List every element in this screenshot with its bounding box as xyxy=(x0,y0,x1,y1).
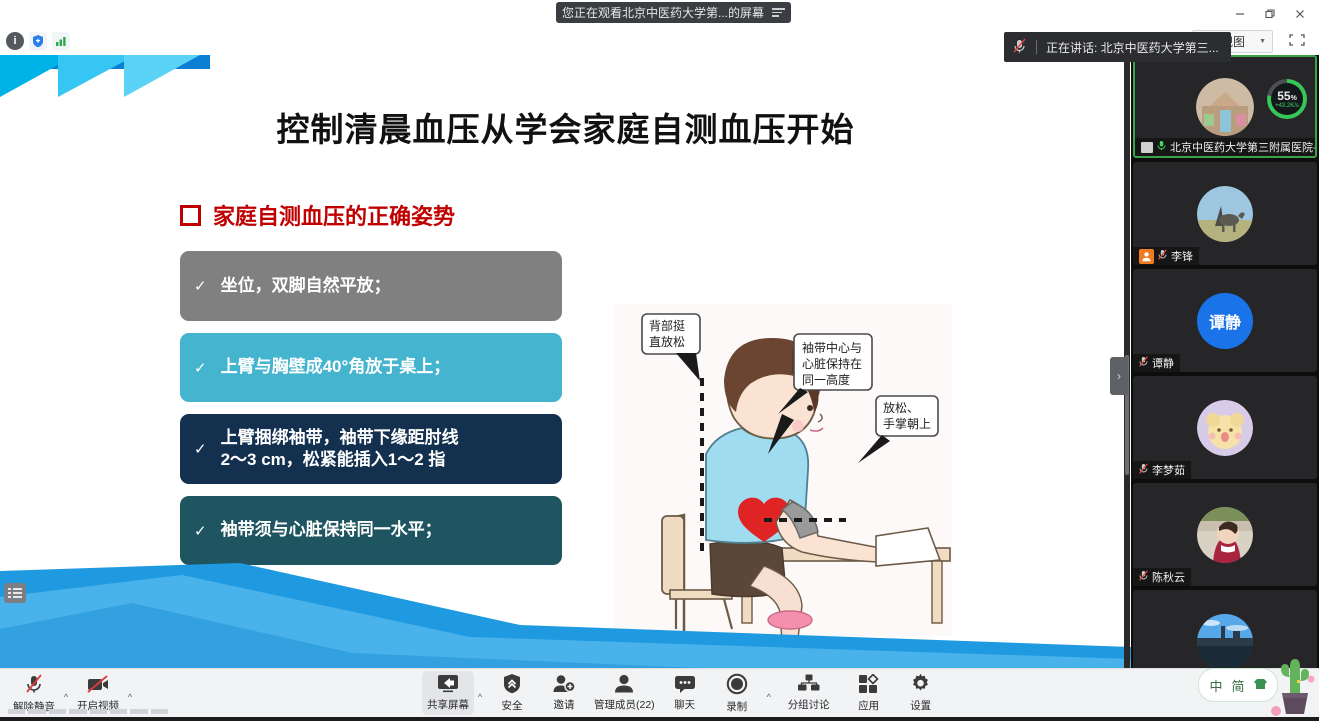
tooltip-divider xyxy=(1036,40,1037,54)
mic-muted-icon xyxy=(1139,570,1148,584)
chat-label: 聊天 xyxy=(674,697,695,712)
checklist-item-text: 上臂与胸壁成40°角放于桌上； xyxy=(221,356,451,378)
settings-gear-icon xyxy=(910,673,931,697)
share-screen-button[interactable]: 共享屏幕 xyxy=(422,671,474,715)
slide-decoration-top-left xyxy=(0,55,250,97)
shield-icon[interactable] xyxy=(29,32,47,50)
toolbar-center-group: 共享屏幕 ^ 安全 邀请 管理成员(22) xyxy=(422,669,947,717)
mic-muted-icon xyxy=(1158,249,1167,263)
checklist-item: ✓ 上臂与胸壁成40°角放于桌上； xyxy=(180,333,562,402)
chat-button[interactable]: 聊天 xyxy=(659,671,711,715)
network-quality-indicator: 55% +43.2K/s xyxy=(1267,79,1307,119)
share-options-caret[interactable]: ^ xyxy=(474,692,486,702)
svg-text:直放松: 直放松 xyxy=(649,334,685,349)
ime-mode[interactable]: 中 xyxy=(1209,676,1222,695)
settings-button[interactable]: 设置 xyxy=(895,671,947,715)
record-label: 录制 xyxy=(726,699,747,714)
avatar-initials: 谭静 xyxy=(1197,293,1253,349)
fullscreen-icon[interactable] xyxy=(1287,31,1309,51)
posture-checklist: ✓ 坐位，双脚自然平放； ✓ 上臂与胸壁成40°角放于桌上； ✓ 上臂捆绑袖带，… xyxy=(180,251,562,577)
checklist-item: ✓ 袖带须与心脏保持同一水平； xyxy=(180,496,562,565)
participant-name-bar: 陈秋云 xyxy=(1133,568,1191,586)
screen-sharing-notice: 您正在观看北京中医药大学第...的屏幕 xyxy=(556,2,791,23)
invite-label: 邀请 xyxy=(554,697,575,712)
participant-name: 谭静 xyxy=(1152,355,1174,371)
avatar xyxy=(1197,614,1253,669)
checklist-line-1: 上臂捆绑袖带，袖带下缘距肘线 xyxy=(221,428,459,447)
square-bullet-icon xyxy=(180,205,201,226)
security-button[interactable]: 安全 xyxy=(486,671,538,715)
toolbar-progress-dots xyxy=(8,709,168,715)
slide-subtitle-text: 家庭自测血压的正确姿势 xyxy=(213,199,455,231)
breakout-rooms-label: 分组讨论 xyxy=(788,697,830,712)
shared-screen-stage[interactable]: 控制清晨血压从学会家庭自测血压开始 家庭自测血压的正确姿势 ✓ 坐位，双脚自然平… xyxy=(0,55,1131,668)
svg-text:心脏保持在: 心脏保持在 xyxy=(802,356,862,371)
mic-muted-icon xyxy=(1139,356,1148,370)
active-speaker-tooltip: 正在讲话: 北京中医药大学第三... xyxy=(1004,32,1231,62)
share-screen-icon xyxy=(436,674,460,696)
slide-subtitle: 家庭自测血压的正确姿势 xyxy=(180,199,455,231)
participant-tile[interactable]: 陈秋云 xyxy=(1133,483,1317,586)
checklist-item: ✓ 上臂捆绑袖带，袖带下缘距肘线 2～3 cm，松紧能插入1～2 指 xyxy=(180,414,562,484)
sharing-notice-text: 您正在观看北京中医药大学第...的屏幕 xyxy=(562,4,764,21)
avatar xyxy=(1196,78,1254,136)
participant-name-bar: 北京中医药大学第三附属医院---... xyxy=(1135,138,1315,156)
svg-text:放松、: 放松、 xyxy=(883,400,919,415)
close-button[interactable] xyxy=(1285,0,1315,27)
check-icon: ✓ xyxy=(194,277,207,295)
record-icon xyxy=(726,673,748,698)
svg-text:同一高度: 同一高度 xyxy=(802,372,850,387)
slide-decoration-bottom-left xyxy=(0,563,1131,668)
participant-tile-active[interactable]: 55% +43.2K/s 北京中医药大学第三附属医院---... xyxy=(1133,55,1317,158)
shape-icon[interactable] xyxy=(1254,678,1267,693)
participant-tile[interactable]: 李梦茹 xyxy=(1133,376,1317,479)
security-shield-icon xyxy=(502,673,522,697)
check-icon: ✓ xyxy=(194,359,207,377)
zoom-meeting-window: 您正在观看北京中医药大学第...的屏幕 i ...者 xyxy=(0,0,1319,716)
invite-user-icon xyxy=(552,674,576,696)
chat-icon xyxy=(674,675,696,696)
info-icon[interactable]: i xyxy=(6,32,24,50)
participant-name: 北京中医药大学第三附属医院---... xyxy=(1170,139,1317,155)
mic-muted-icon xyxy=(1012,38,1027,57)
apps-icon xyxy=(858,674,880,697)
ime-indicator[interactable]: 中 简 xyxy=(1198,668,1278,702)
network-percent: 55 xyxy=(1277,89,1290,103)
mic-muted-icon xyxy=(1139,463,1148,477)
ime-style[interactable]: 简 xyxy=(1232,676,1245,695)
desktop-cactus-decoration xyxy=(1270,655,1316,716)
checklist-item-text: 坐位，双脚自然平放； xyxy=(221,275,391,297)
signal-bars-icon[interactable] xyxy=(52,32,70,50)
status-icons: i xyxy=(6,32,70,50)
network-rate: +43.2K/s xyxy=(1275,103,1299,109)
avatar xyxy=(1197,507,1253,563)
collapse-panel-button[interactable]: › xyxy=(1110,357,1128,395)
video-options-caret[interactable]: ^ xyxy=(124,692,136,702)
settings-label: 设置 xyxy=(910,698,931,713)
chevron-down-icon: ▼ xyxy=(1259,38,1266,45)
participant-tile[interactable]: 谭静 谭静 xyxy=(1133,269,1317,372)
svg-text:手掌朝上: 手掌朝上 xyxy=(883,417,931,431)
title-bar: 您正在观看北京中医药大学第...的屏幕 xyxy=(0,0,1319,27)
manage-participants-button[interactable]: 管理成员(22) xyxy=(590,671,659,715)
invite-button[interactable]: 邀请 xyxy=(538,671,590,715)
svg-text:袖带中心与: 袖带中心与 xyxy=(802,340,862,355)
checklist-item: ✓ 坐位，双脚自然平放； xyxy=(180,251,562,321)
checklist-line-2: 2～3 cm，松紧能插入1～2 指 xyxy=(221,450,446,469)
svg-text:背部挺: 背部挺 xyxy=(649,318,685,333)
participant-panel: 55% +43.2K/s 北京中医药大学第三附属医院---... xyxy=(1131,55,1319,668)
avatar xyxy=(1197,400,1253,456)
mic-active-icon xyxy=(1157,140,1166,154)
mic-muted-icon xyxy=(23,673,45,698)
window-controls xyxy=(1225,0,1315,27)
share-screen-label: 共享屏幕 xyxy=(427,697,469,712)
active-speaker-text: 正在讲话: 北京中医药大学第三... xyxy=(1046,39,1219,56)
participant-name-bar: 谭静 xyxy=(1133,354,1180,372)
presenter-menu-icon[interactable] xyxy=(4,583,26,603)
participant-name-bar: 李锋 xyxy=(1133,247,1199,265)
record-button[interactable]: 录制 xyxy=(711,671,763,715)
participant-name-bar: 李梦茹 xyxy=(1133,461,1191,479)
participant-tile[interactable]: 李锋 xyxy=(1133,162,1317,265)
check-icon: ✓ xyxy=(194,522,207,540)
participant-name: 陈秋云 xyxy=(1152,569,1185,585)
sharing-menu-icon[interactable] xyxy=(772,6,785,19)
screen-share-icon xyxy=(1141,142,1153,153)
meeting-toolbar: 解除静音 ^ 开启视频 ^ 共享屏幕 ^ xyxy=(0,668,1319,717)
avatar xyxy=(1197,186,1253,242)
percent-unit: % xyxy=(1291,95,1297,102)
participant-name: 李锋 xyxy=(1171,248,1193,264)
audio-options-caret[interactable]: ^ xyxy=(60,692,72,702)
apps-button[interactable]: 应用 xyxy=(843,671,895,715)
video-off-icon xyxy=(86,674,110,697)
checklist-item-text: 袖带须与心脏保持同一水平； xyxy=(221,519,442,541)
minimize-button[interactable] xyxy=(1225,0,1255,27)
record-options-caret[interactable]: ^ xyxy=(763,692,775,702)
apps-label: 应用 xyxy=(858,698,879,713)
host-badge-icon xyxy=(1139,249,1154,264)
slide-title: 控制清晨血压从学会家庭自测血压开始 xyxy=(0,103,1131,151)
checklist-item-text: 上臂捆绑袖带，袖带下缘距肘线 2～3 cm，松紧能插入1～2 指 xyxy=(221,427,459,472)
breakout-rooms-button[interactable]: 分组讨论 xyxy=(775,671,843,715)
manage-participants-icon xyxy=(613,674,635,696)
security-label: 安全 xyxy=(502,698,523,713)
breakout-rooms-icon xyxy=(797,674,821,696)
manage-participants-label: 管理成员(22) xyxy=(594,697,655,712)
restore-button[interactable] xyxy=(1255,0,1285,27)
check-icon: ✓ xyxy=(194,440,207,458)
participant-name: 李梦茹 xyxy=(1152,462,1185,478)
